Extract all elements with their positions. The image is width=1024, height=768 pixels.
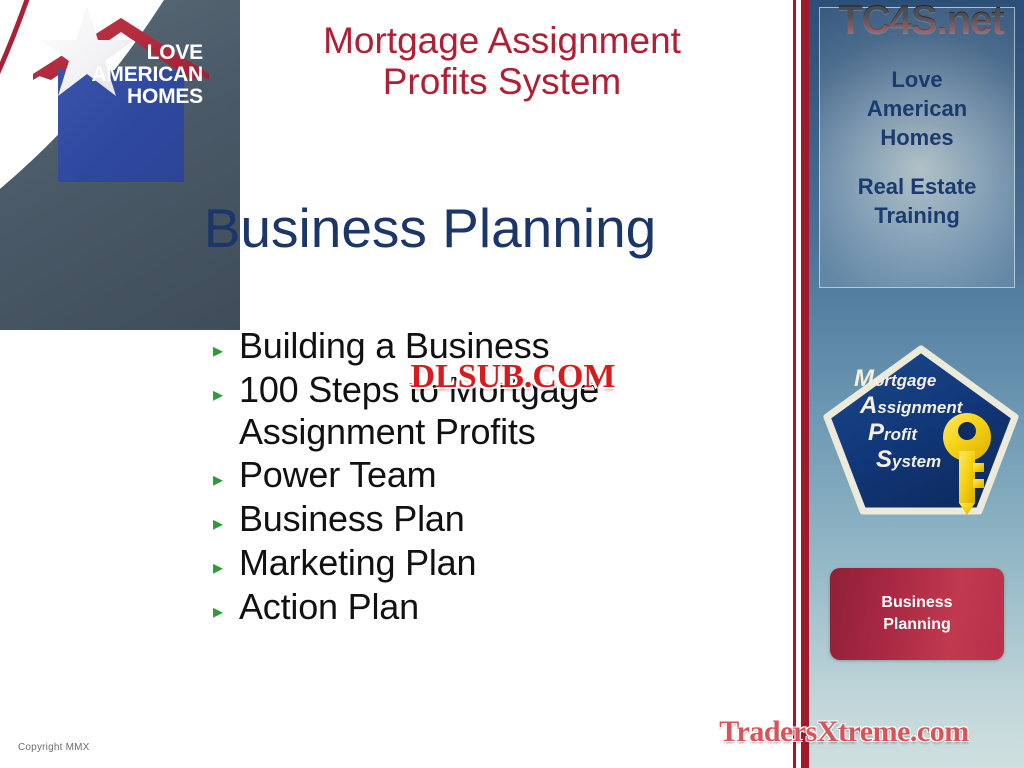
sidebar-info-panel: Love American Homes Real Estate Training (819, 7, 1015, 288)
maps-rest-profit: rofit (884, 425, 917, 444)
triangle-bullet-icon: ▸ (213, 586, 239, 622)
maps-cap-a: A (860, 392, 877, 419)
copyright-notice: Copyright MMX (18, 742, 90, 753)
maps-rest-system: ystem (892, 452, 941, 471)
panel-line-4: Real Estate (858, 172, 977, 201)
triangle-bullet-icon: ▸ (213, 542, 239, 578)
list-item: ▸ Business Plan (213, 498, 773, 540)
list-item: ▸ 100 Steps to Mortgage Assignment Profi… (213, 369, 773, 453)
love-american-homes-logo: LOVE AMERICAN HOMES (33, 18, 209, 183)
maps-line-1: Mortgage (854, 367, 1004, 391)
list-item-label: 100 Steps to Mortgage Assignment Profits (239, 369, 773, 453)
maps-rest-assignment: ssignment (877, 398, 962, 417)
maps-line-4: System (876, 448, 1004, 472)
logo-line-1: LOVE (91, 42, 203, 64)
maps-wordmark: Mortgage Assignment Profit System (854, 367, 1004, 475)
divider-red-thick (801, 0, 809, 768)
triangle-bullet-icon: ▸ (213, 325, 239, 361)
button-line-2: Planning (883, 614, 951, 636)
triangle-bullet-icon: ▸ (213, 454, 239, 490)
button-line-1: Business (881, 592, 952, 614)
list-item-label: Marketing Plan (239, 542, 773, 584)
triangle-bullet-icon: ▸ (213, 369, 239, 405)
maps-cap-m: M (854, 365, 874, 392)
list-item: ▸ Building a Business (213, 325, 773, 367)
slide-canvas: LOVE AMERICAN HOMES Mortgage Assignment … (0, 0, 1024, 768)
logo-wordmark: LOVE AMERICAN HOMES (91, 42, 203, 107)
maps-cap-p: P (868, 419, 884, 446)
main-content-area: LOVE AMERICAN HOMES Mortgage Assignment … (0, 0, 792, 768)
panel-line-3: Homes (880, 123, 953, 152)
panel-line-2: American (867, 94, 967, 123)
bullet-list: ▸ Building a Business ▸ 100 Steps to Mor… (213, 325, 773, 629)
panel-line-1: Love (891, 65, 942, 94)
maps-line-3: Profit (868, 421, 1004, 445)
list-item: ▸ Power Team (213, 454, 773, 496)
logo-line-2: AMERICAN (91, 64, 203, 86)
list-item: ▸ Marketing Plan (213, 542, 773, 584)
list-item-label: Power Team (239, 454, 773, 496)
list-item-label: Building a Business (239, 325, 773, 367)
maps-rest-mortgage: ortgage (874, 371, 936, 390)
maps-line-2: Assignment (860, 394, 1004, 418)
deck-title-line-1: Mortgage Assignment (228, 20, 776, 61)
list-item-label: Action Plan (239, 586, 773, 628)
business-planning-button[interactable]: Business Planning (830, 568, 1004, 660)
logo-line-3: HOMES (91, 86, 203, 108)
panel-line-5: Training (874, 201, 960, 230)
deck-title-line-2: Profits System (228, 61, 776, 102)
slide-title: Business Planning (120, 200, 740, 258)
triangle-bullet-icon: ▸ (213, 498, 239, 534)
maps-cap-s: S (876, 446, 892, 473)
list-item: ▸ Action Plan (213, 586, 773, 628)
deck-title: Mortgage Assignment Profits System (228, 20, 776, 103)
maps-pentagon-logo: Mortgage Assignment Profit System (821, 345, 1021, 525)
list-item-label: Business Plan (239, 498, 773, 540)
